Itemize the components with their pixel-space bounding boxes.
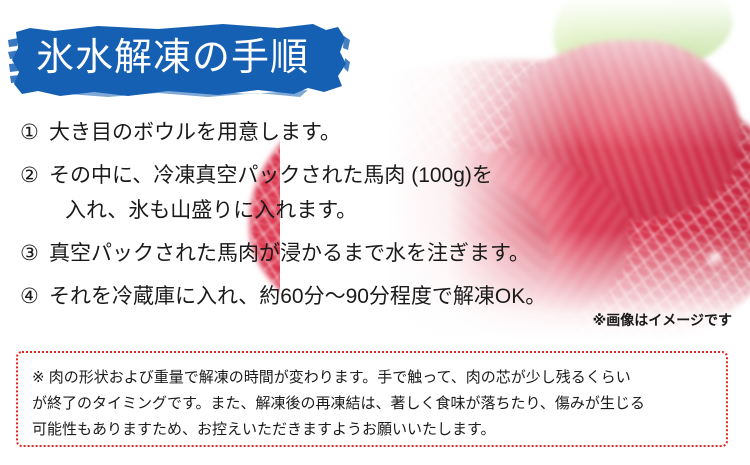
step-item-2: ② その中に、冷凍真空パックされた馬肉 (100g)を 入れ、氷も山盛りに入れま… <box>20 161 580 226</box>
image-disclaimer: ※画像はイメージです <box>593 310 732 330</box>
step-number-4: ④ <box>20 282 49 312</box>
step-item-1: ① 大き目のボウルを用意します。 <box>20 118 580 148</box>
note-line-1: ※ 肉の形状および重量で解凍の時間が変わります。手で触って、肉の芯が少し残るくら… <box>32 365 716 391</box>
step-text-2: その中に、冷凍真空パックされた馬肉 (100g)を 入れ、氷も山盛りに入れます。 <box>49 161 580 226</box>
step-text-2-line2: 入れ、氷も山盛りに入れます。 <box>49 196 580 226</box>
page-title: 氷水解凍の手順 <box>36 38 336 78</box>
step-number-3: ③ <box>20 239 49 269</box>
thaw-instructions-infographic: 氷水解凍の手順 ① 大き目のボウルを用意します。 ② その中に、冷凍真空パックさ… <box>0 0 750 465</box>
step-item-4: ④ それを冷蔵庫に入れ、約60分〜90分程度で解凍OK。 <box>20 282 580 312</box>
note-line-3: 可能性もありますため、お控えいただきますようお願いいたします。 <box>32 417 716 443</box>
step-number-1: ① <box>20 118 49 148</box>
step-item-3: ③ 真空パックされた馬肉が浸かるまで水を注ぎます。 <box>20 239 580 269</box>
note-line-2: が終了のタイミングです。また、解凍後の再凍結は、著しく食味が落ちたり、傷みが生じ… <box>32 391 716 417</box>
step-text-4: それを冷蔵庫に入れ、約60分〜90分程度で解凍OK。 <box>49 282 580 312</box>
note-box: ※ 肉の形状および重量で解凍の時間が変わります。手で触って、肉の芯が少し残るくら… <box>16 351 728 447</box>
step-text-3: 真空パックされた馬肉が浸かるまで水を注ぎます。 <box>49 239 580 269</box>
step-text-2-line1: その中に、冷凍真空パックされた馬肉 (100g)を <box>49 164 493 187</box>
step-number-2: ② <box>20 161 49 191</box>
note-text: ※ 肉の形状および重量で解凍の時間が変わります。手で触って、肉の芯が少し残るくら… <box>32 365 716 443</box>
steps-list: ① 大き目のボウルを用意します。 ② その中に、冷凍真空パックされた馬肉 (10… <box>20 118 580 325</box>
title-banner: 氷水解凍の手順 <box>8 18 350 98</box>
step-text-1: 大き目のボウルを用意します。 <box>49 118 580 148</box>
